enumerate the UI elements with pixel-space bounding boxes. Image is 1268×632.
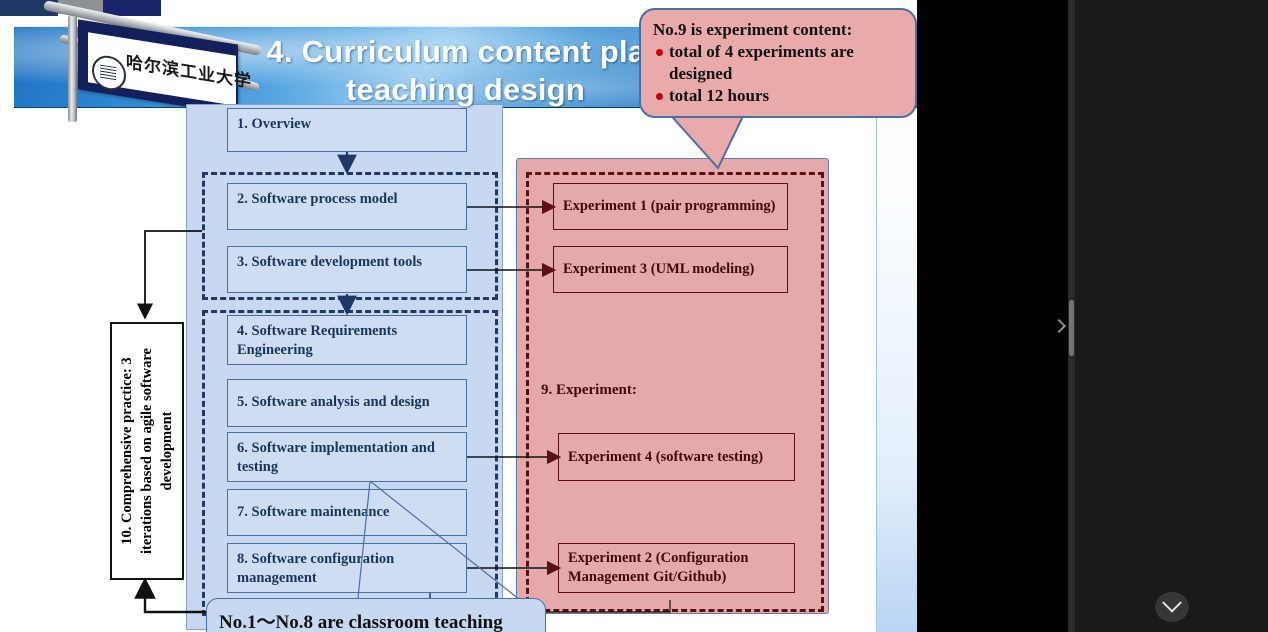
callout-bullets: total of 4 experiments are designed tota… bbox=[653, 41, 903, 107]
sidebar-scrollbar-thumb[interactable] bbox=[1069, 300, 1074, 356]
callout-bullet: total of 4 experiments are designed bbox=[669, 41, 903, 85]
shared-screen[interactable]: 4. Curriculum content plan teaching desi… bbox=[0, 0, 917, 632]
scroll-down-button[interactable] bbox=[1155, 592, 1189, 622]
node-1-overview[interactable]: 1. Overview bbox=[227, 108, 467, 152]
node-8-software-configuration-management[interactable]: 8. Software configuration management bbox=[227, 543, 467, 593]
experiment-section-label: 9. Experiment: bbox=[541, 382, 637, 399]
callout-bullet: total 12 hours bbox=[669, 85, 903, 107]
slide-canvas: 4. Curriculum content plan teaching desi… bbox=[0, 0, 917, 632]
callout-title: No.9 is experiment content: bbox=[653, 19, 903, 40]
experiment-2-box[interactable]: Experiment 2 (Configuration Management G… bbox=[558, 543, 795, 593]
experiment-1-box[interactable]: Experiment 1 (pair programming) bbox=[553, 183, 788, 230]
app-window: 4. Curriculum content plan teaching desi… bbox=[0, 0, 1268, 632]
experiment-3-box[interactable]: Experiment 3 (UML modeling) bbox=[553, 246, 788, 293]
collapse-panel-button[interactable] bbox=[1052, 316, 1068, 338]
node-7-software-maintenance[interactable]: 7. Software maintenance bbox=[227, 489, 467, 536]
classroom-teaching-note: No.1～No.8 are classroom teaching bbox=[206, 598, 546, 632]
experiment-callout: No.9 is experiment content: total of 4 e… bbox=[639, 8, 917, 118]
node-2-software-process-model[interactable]: 2. Software process model bbox=[227, 183, 467, 230]
node-10-comprehensive-practice[interactable]: 10. Comprehensive practice: 3 iterations… bbox=[110, 322, 184, 580]
node-5-software-analysis-and-design[interactable]: 5. Software analysis and design bbox=[227, 379, 467, 427]
node-4-software-requirements-engineering[interactable]: 4. Software Requirements Engineering bbox=[227, 315, 467, 365]
node-3-software-development-tools[interactable]: 3. Software development tools bbox=[227, 246, 467, 293]
node-6-software-implementation-and-testing[interactable]: 6. Software implementation and testing bbox=[227, 432, 467, 482]
participant-sidebar[interactable]: HIT-Zhiying Tu的屏幕... THE SEVENTEENTH CHI… bbox=[1075, 0, 1268, 632]
experiment-4-box[interactable]: Experiment 4 (software testing) bbox=[558, 433, 795, 481]
